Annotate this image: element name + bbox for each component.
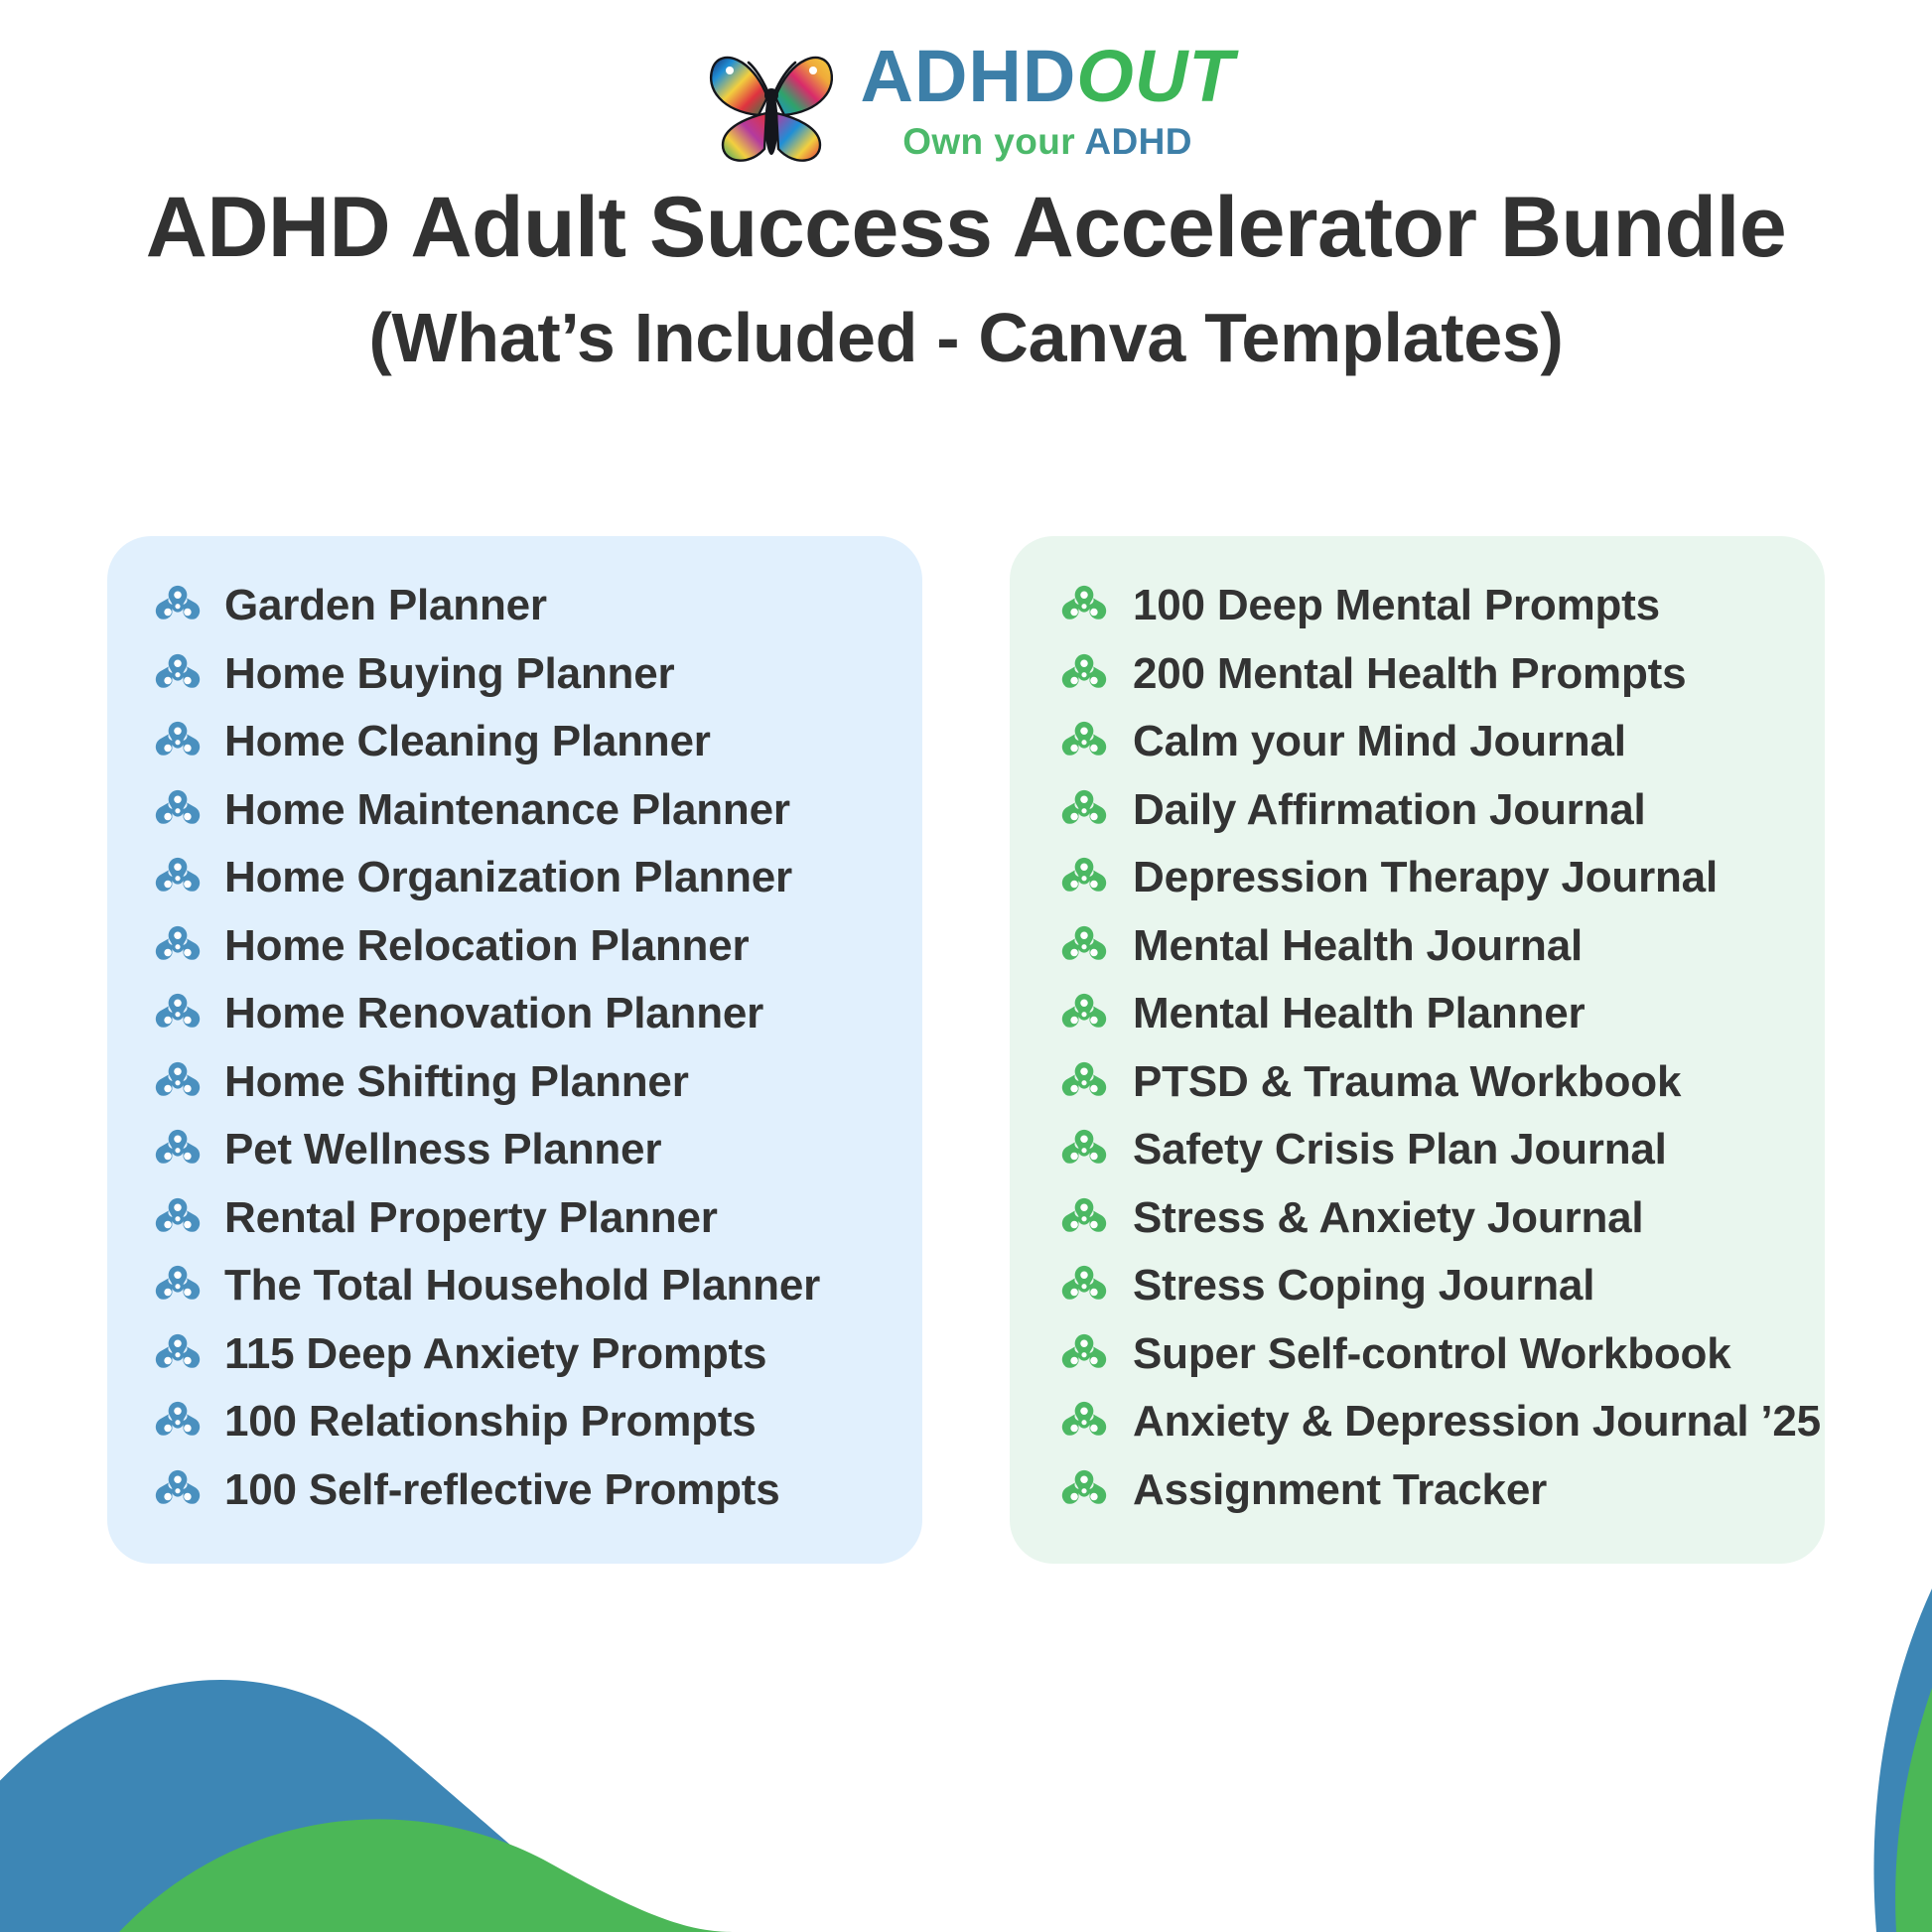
tagline-own-your: Own your	[902, 121, 1075, 162]
list-item: Home Cleaning Planner	[137, 708, 893, 776]
poster-canvas: ADHDOUT Own your ADHD ADHD Adult Success…	[0, 0, 1932, 1932]
list-item: Rental Property Planner	[137, 1184, 893, 1253]
list-item: Pet Wellness Planner	[137, 1116, 893, 1184]
list-item: Anxiety & Depression Journal ’25	[1039, 1388, 1795, 1456]
right-column-card: 100 Deep Mental Prompts200 Mental Health…	[1010, 536, 1825, 1564]
page-subtitle: (What’s Included - Canva Templates)	[0, 298, 1932, 377]
list-item: 100 Self-reflective Prompts	[137, 1456, 893, 1525]
tagline-adhd: ADHD	[1084, 121, 1191, 162]
fidget-spinner-icon	[155, 923, 201, 969]
list-item-label: Mental Health Journal	[1133, 923, 1583, 969]
list-item: Stress & Anxiety Journal	[1039, 1184, 1795, 1253]
list-item-label: Daily Affirmation Journal	[1133, 787, 1646, 833]
list-item: Calm your Mind Journal	[1039, 708, 1795, 776]
list-item: Mental Health Planner	[1039, 980, 1795, 1048]
fidget-spinner-icon	[155, 1263, 201, 1309]
list-item: Stress Coping Journal	[1039, 1252, 1795, 1320]
list-item-label: Home Cleaning Planner	[224, 719, 711, 764]
list-item-label: PTSD & Trauma Workbook	[1133, 1059, 1681, 1105]
list-item: Home Maintenance Planner	[137, 776, 893, 845]
left-column-card: Garden PlannerHome Buying PlannerHome Cl…	[107, 536, 922, 1564]
list-item-label: 115 Deep Anxiety Prompts	[224, 1331, 766, 1377]
list-item-label: Home Renovation Planner	[224, 991, 763, 1036]
fidget-spinner-icon	[1061, 1399, 1107, 1445]
fidget-spinner-icon	[1061, 1467, 1107, 1513]
fidget-spinner-icon	[1061, 1127, 1107, 1173]
fidget-spinner-icon	[1061, 1331, 1107, 1377]
fidget-spinner-icon	[155, 1059, 201, 1105]
list-item: Garden Planner	[137, 572, 893, 640]
list-item: PTSD & Trauma Workbook	[1039, 1048, 1795, 1117]
list-item: Home Buying Planner	[137, 640, 893, 709]
page-title: ADHD Adult Success Accelerator Bundle	[0, 179, 1932, 277]
fidget-spinner-icon	[155, 1399, 201, 1445]
brand-tagline: Own your ADHD	[861, 121, 1235, 163]
list-item-label: Assignment Tracker	[1133, 1467, 1547, 1513]
list-item-label: Home Maintenance Planner	[224, 787, 790, 833]
fidget-spinner-icon	[1061, 719, 1107, 764]
butterfly-icon	[698, 38, 843, 177]
right-blue-stripe	[1873, 1588, 1932, 1932]
fidget-spinner-icon	[155, 1467, 201, 1513]
fidget-spinner-icon	[1061, 583, 1107, 628]
fidget-spinner-icon	[1061, 991, 1107, 1036]
list-item-label: Home Buying Planner	[224, 651, 674, 697]
fidget-spinner-icon	[155, 651, 201, 697]
fidget-spinner-icon	[155, 1127, 201, 1173]
list-item: Daily Affirmation Journal	[1039, 776, 1795, 845]
green-blob	[119, 1819, 735, 1932]
fidget-spinner-icon	[155, 583, 201, 628]
wordmark-adhd: ADHD	[861, 35, 1077, 117]
list-item-label: 100 Relationship Prompts	[224, 1399, 757, 1445]
list-item: Home Renovation Planner	[137, 980, 893, 1048]
fidget-spinner-icon	[1061, 1195, 1107, 1241]
list-item-label: 200 Mental Health Prompts	[1133, 651, 1686, 697]
list-item-label: Home Relocation Planner	[224, 923, 749, 969]
list-item-label: Rental Property Planner	[224, 1195, 718, 1241]
list-item-label: Stress & Anxiety Journal	[1133, 1195, 1643, 1241]
fidget-spinner-icon	[155, 1195, 201, 1241]
list-item: 100 Relationship Prompts	[137, 1388, 893, 1456]
bundle-contents: Garden PlannerHome Buying PlannerHome Cl…	[107, 536, 1825, 1564]
fidget-spinner-icon	[155, 787, 201, 833]
wordmark-out: OUT	[1076, 35, 1234, 117]
list-item: The Total Household Planner	[137, 1252, 893, 1320]
fidget-spinner-icon	[155, 1331, 201, 1377]
fidget-spinner-icon	[155, 719, 201, 764]
list-item-label: Anxiety & Depression Journal ’25	[1133, 1399, 1821, 1445]
fidget-spinner-icon	[1061, 787, 1107, 833]
list-item: Home Shifting Planner	[137, 1048, 893, 1117]
list-item-label: Mental Health Planner	[1133, 991, 1585, 1036]
fidget-spinner-icon	[1061, 1059, 1107, 1105]
list-item-label: Home Organization Planner	[224, 855, 792, 900]
list-item: Home Organization Planner	[137, 844, 893, 912]
brand-logo: ADHDOUT Own your ADHD	[0, 34, 1932, 177]
fidget-spinner-icon	[1061, 651, 1107, 697]
list-item: Safety Crisis Plan Journal	[1039, 1116, 1795, 1184]
fidget-spinner-icon	[1061, 855, 1107, 900]
list-item-label: Calm your Mind Journal	[1133, 719, 1626, 764]
fidget-spinner-icon	[155, 991, 201, 1036]
list-item-label: Stress Coping Journal	[1133, 1263, 1594, 1309]
list-item: 100 Deep Mental Prompts	[1039, 572, 1795, 640]
list-item-label: 100 Self-reflective Prompts	[224, 1467, 780, 1513]
list-item-label: Home Shifting Planner	[224, 1059, 689, 1105]
fidget-spinner-icon	[1061, 1263, 1107, 1309]
list-item-label: The Total Household Planner	[224, 1263, 820, 1309]
list-item: Assignment Tracker	[1039, 1456, 1795, 1525]
list-item: 200 Mental Health Prompts	[1039, 640, 1795, 709]
list-item: Super Self-control Workbook	[1039, 1320, 1795, 1389]
fidget-spinner-icon	[1061, 923, 1107, 969]
right-green-stripe	[1895, 1688, 1932, 1932]
blue-blob	[0, 1680, 616, 1932]
list-item-label: 100 Deep Mental Prompts	[1133, 583, 1660, 628]
list-item-label: Depression Therapy Journal	[1133, 855, 1718, 900]
fidget-spinner-icon	[155, 855, 201, 900]
list-item: Depression Therapy Journal	[1039, 844, 1795, 912]
brand-wordmark: ADHDOUT	[861, 42, 1235, 111]
list-item: Mental Health Journal	[1039, 912, 1795, 981]
list-item: 115 Deep Anxiety Prompts	[137, 1320, 893, 1389]
list-item-label: Garden Planner	[224, 583, 547, 628]
list-item: Home Relocation Planner	[137, 912, 893, 981]
list-item-label: Pet Wellness Planner	[224, 1127, 661, 1173]
brand-text: ADHDOUT Own your ADHD	[861, 34, 1235, 163]
list-item-label: Safety Crisis Plan Journal	[1133, 1127, 1667, 1173]
list-item-label: Super Self-control Workbook	[1133, 1331, 1731, 1377]
